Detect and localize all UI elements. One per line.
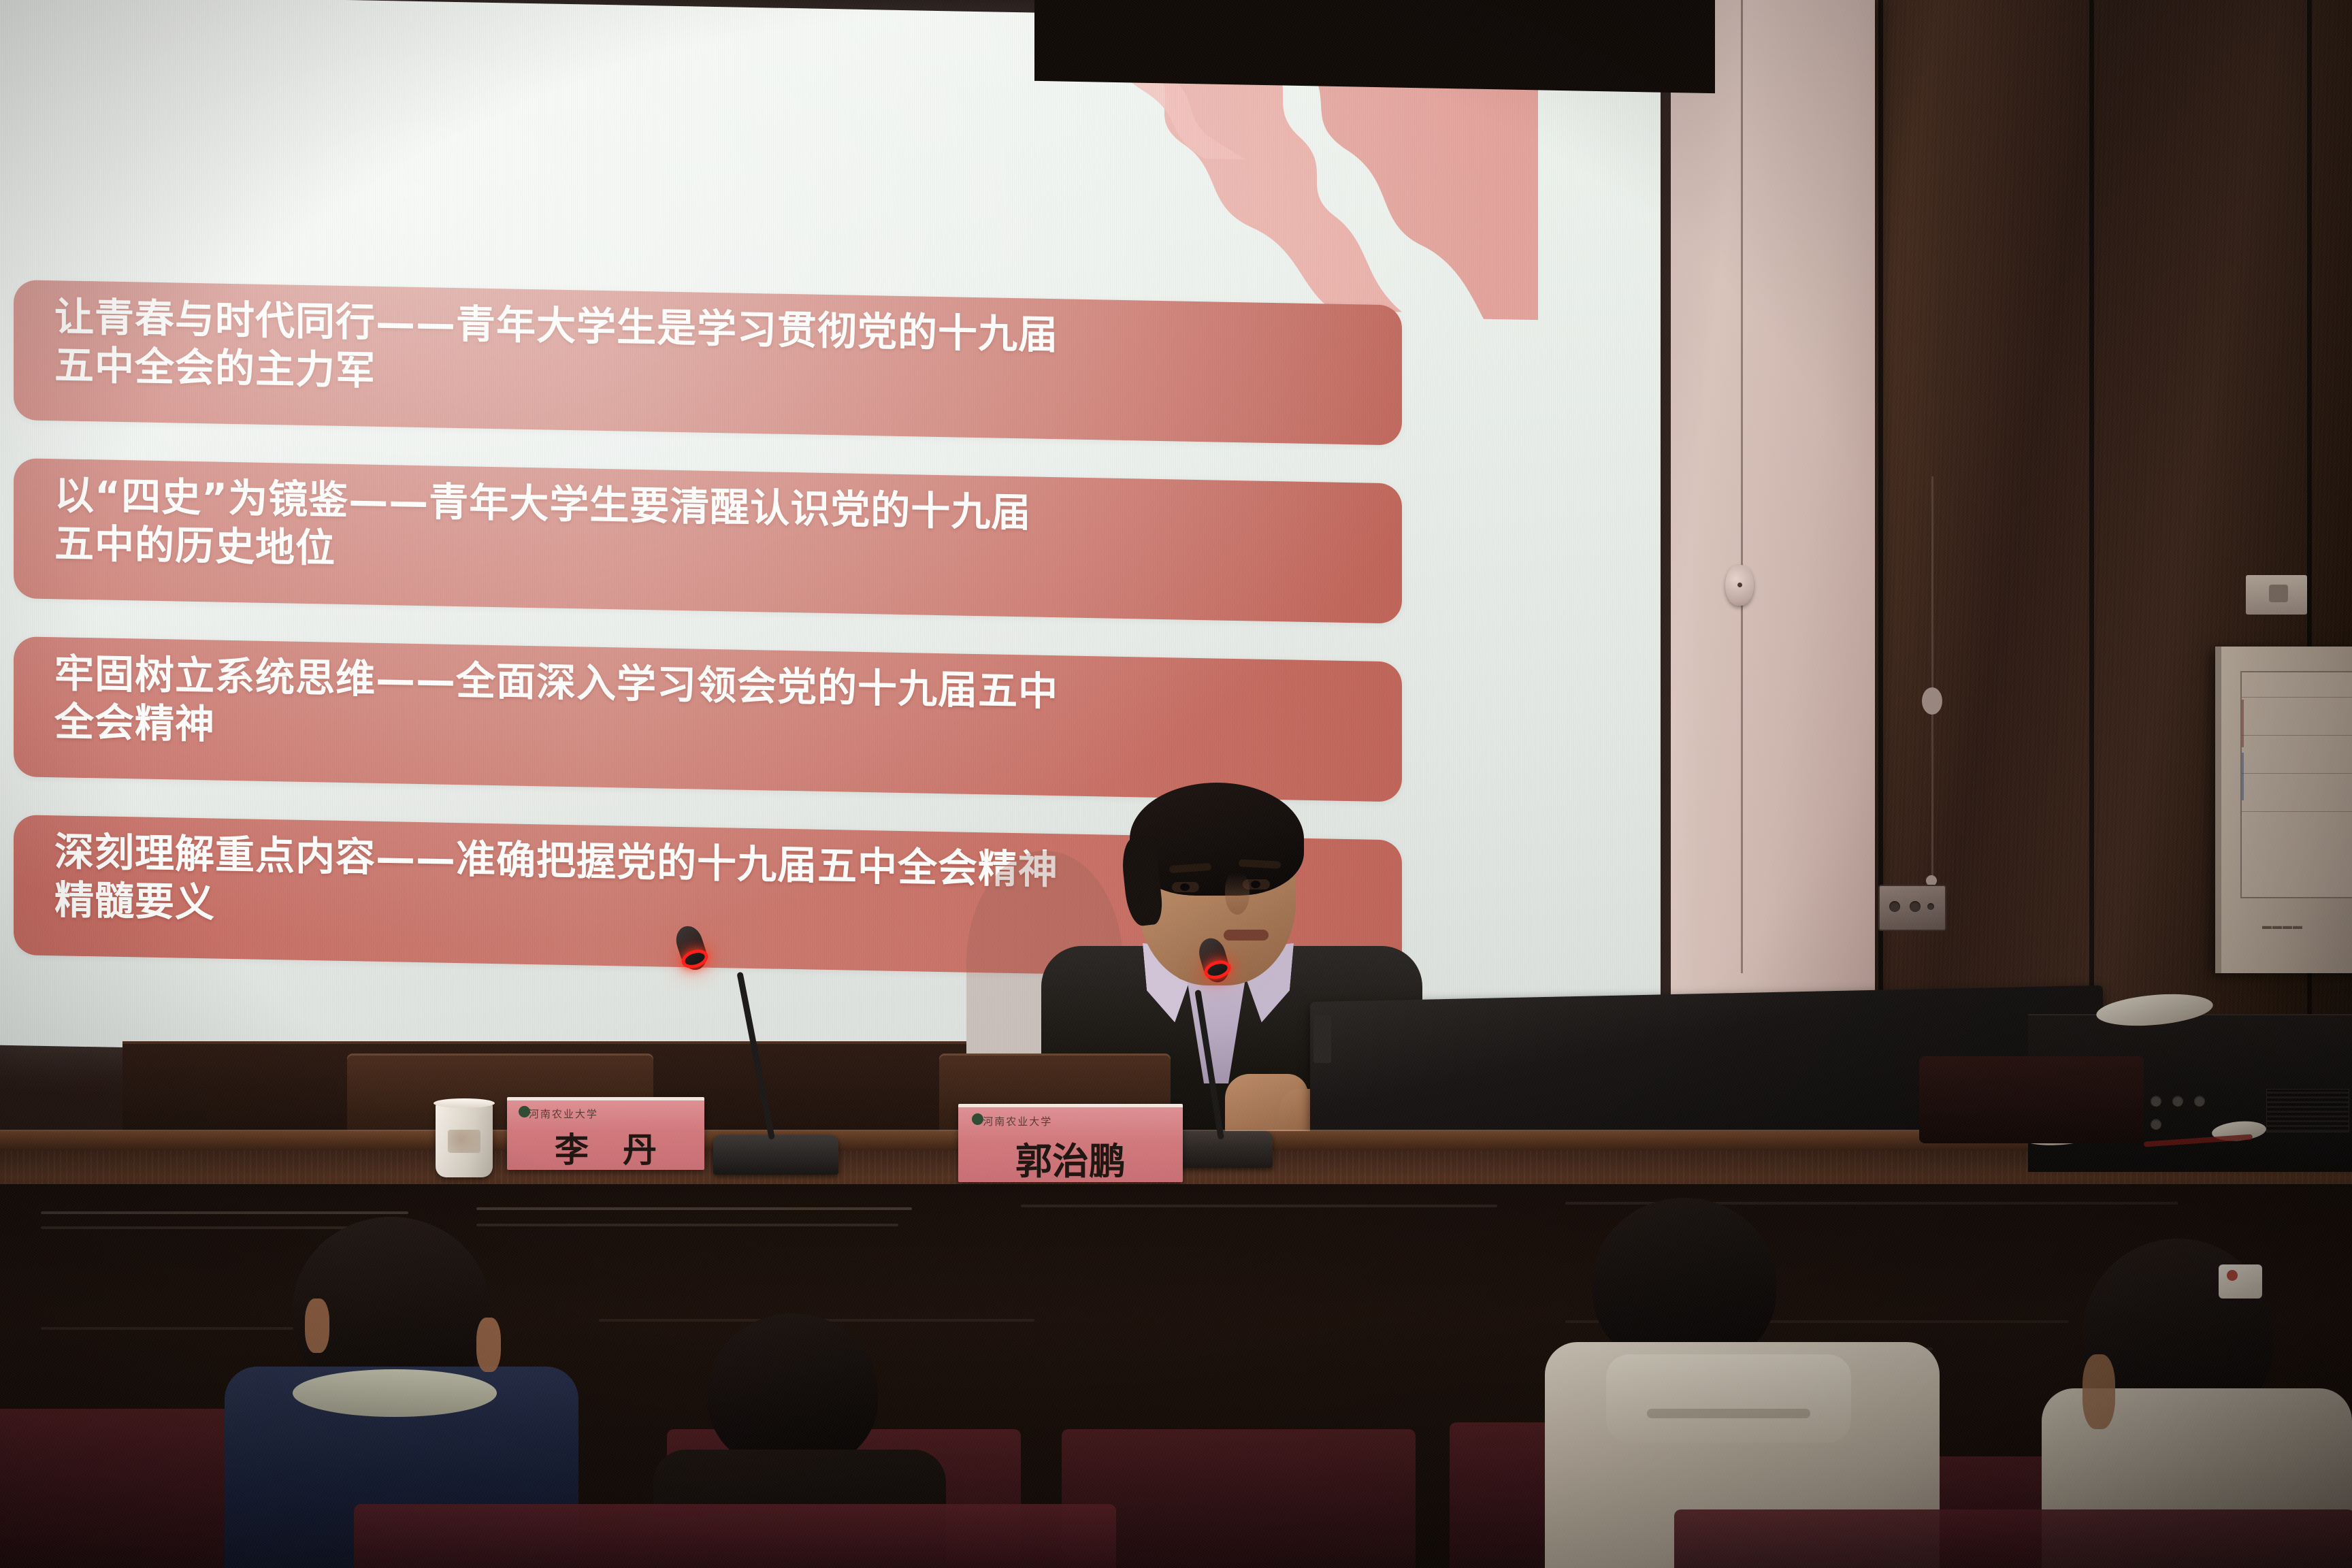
seat-front (1674, 1509, 2352, 1568)
rack-knob-icon[interactable] (2151, 1096, 2161, 1107)
pillar-cable (1741, 0, 1743, 973)
rack-knob-icon[interactable] (2151, 1119, 2161, 1130)
rack-knob-icon[interactable] (2194, 1096, 2205, 1107)
wall-cable (1931, 476, 1933, 885)
microphone-base-left[interactable] (713, 1135, 838, 1175)
university-logo-icon (972, 1113, 983, 1125)
slide-bullet-1: 让青春与时代同行——青年大学生是学习贯彻党的十九届 五中全会的主力军 (14, 280, 1402, 445)
rack-knob-icon[interactable] (2172, 1096, 2183, 1107)
screen-top-shadow (1034, 0, 1715, 93)
lecture-hall-photo: ▬▬▬▬ 让青春与时代同行——青年大学生是学习贯彻党的十九届 五中全会的主力军 … (0, 0, 2352, 1568)
wall-socket-plate[interactable] (1878, 885, 1946, 931)
wall-cable-knob-icon (1922, 687, 1942, 715)
name-plate-name-2: 郭治鹏 (958, 1131, 1183, 1185)
slide-bullet-2: 以“四史”为镜鉴——青年大学生要清醒认识党的十九届 五中的历史地位 (14, 458, 1402, 623)
equipment-box (1919, 1056, 2144, 1143)
socket-hole-icon (1927, 903, 1934, 910)
rack-vent-grill (2266, 1089, 2349, 1132)
name-plate-name-1: 李 丹 (507, 1123, 704, 1172)
cup-logo-icon (448, 1130, 480, 1153)
name-plate-guo-zhipeng: 河南农业大学 郭治鹏 (958, 1104, 1183, 1182)
slide-bullet-1-text: 让青春与时代同行——青年大学生是学习贯彻党的十九届 五中全会的主力军 (54, 293, 1379, 413)
wall-cabinet: ▬▬▬▬ (2215, 647, 2352, 973)
laptop-hinge (1313, 1015, 1331, 1063)
socket-hole-icon (1889, 901, 1900, 912)
socket-hole-icon (1910, 901, 1921, 912)
speaker-nose (1225, 872, 1249, 915)
speaker-mouth (1224, 930, 1269, 941)
name-plate-org-1: 河南农业大学 (529, 1107, 598, 1121)
seat-front (354, 1504, 1116, 1568)
projection-screen: 让青春与时代同行——青年大学生是学习贯彻党的十九届 五中全会的主力军 以“四史”… (0, 0, 1661, 1075)
paper-cup[interactable] (436, 1102, 493, 1177)
slide-bullet-3-text: 牢固树立系统思维——全面深入学习领会党的十九届五中 全会精神 (54, 649, 1379, 770)
cabinet-panel (2240, 671, 2352, 898)
name-plate-org-2: 河南农业大学 (983, 1114, 1052, 1128)
wall-pillar (1671, 0, 1875, 1021)
cabinet-label: ▬▬▬▬ (2262, 920, 2303, 931)
pillar-knob-icon (1725, 565, 1754, 606)
name-plate-li-dan: 河南农业大学 李 丹 (507, 1097, 704, 1170)
audience-area (0, 1184, 2352, 1568)
slide-bullet-3: 牢固树立系统思维——全面深入学习领会党的十九届五中 全会精神 (14, 636, 1402, 802)
slide-bullet-2-text: 以“四史”为镜鉴——青年大学生要清醒认识党的十九届 五中的历史地位 (54, 471, 1379, 591)
wall-bracket (2246, 575, 2307, 615)
speaker-eye-left (1172, 882, 1199, 892)
